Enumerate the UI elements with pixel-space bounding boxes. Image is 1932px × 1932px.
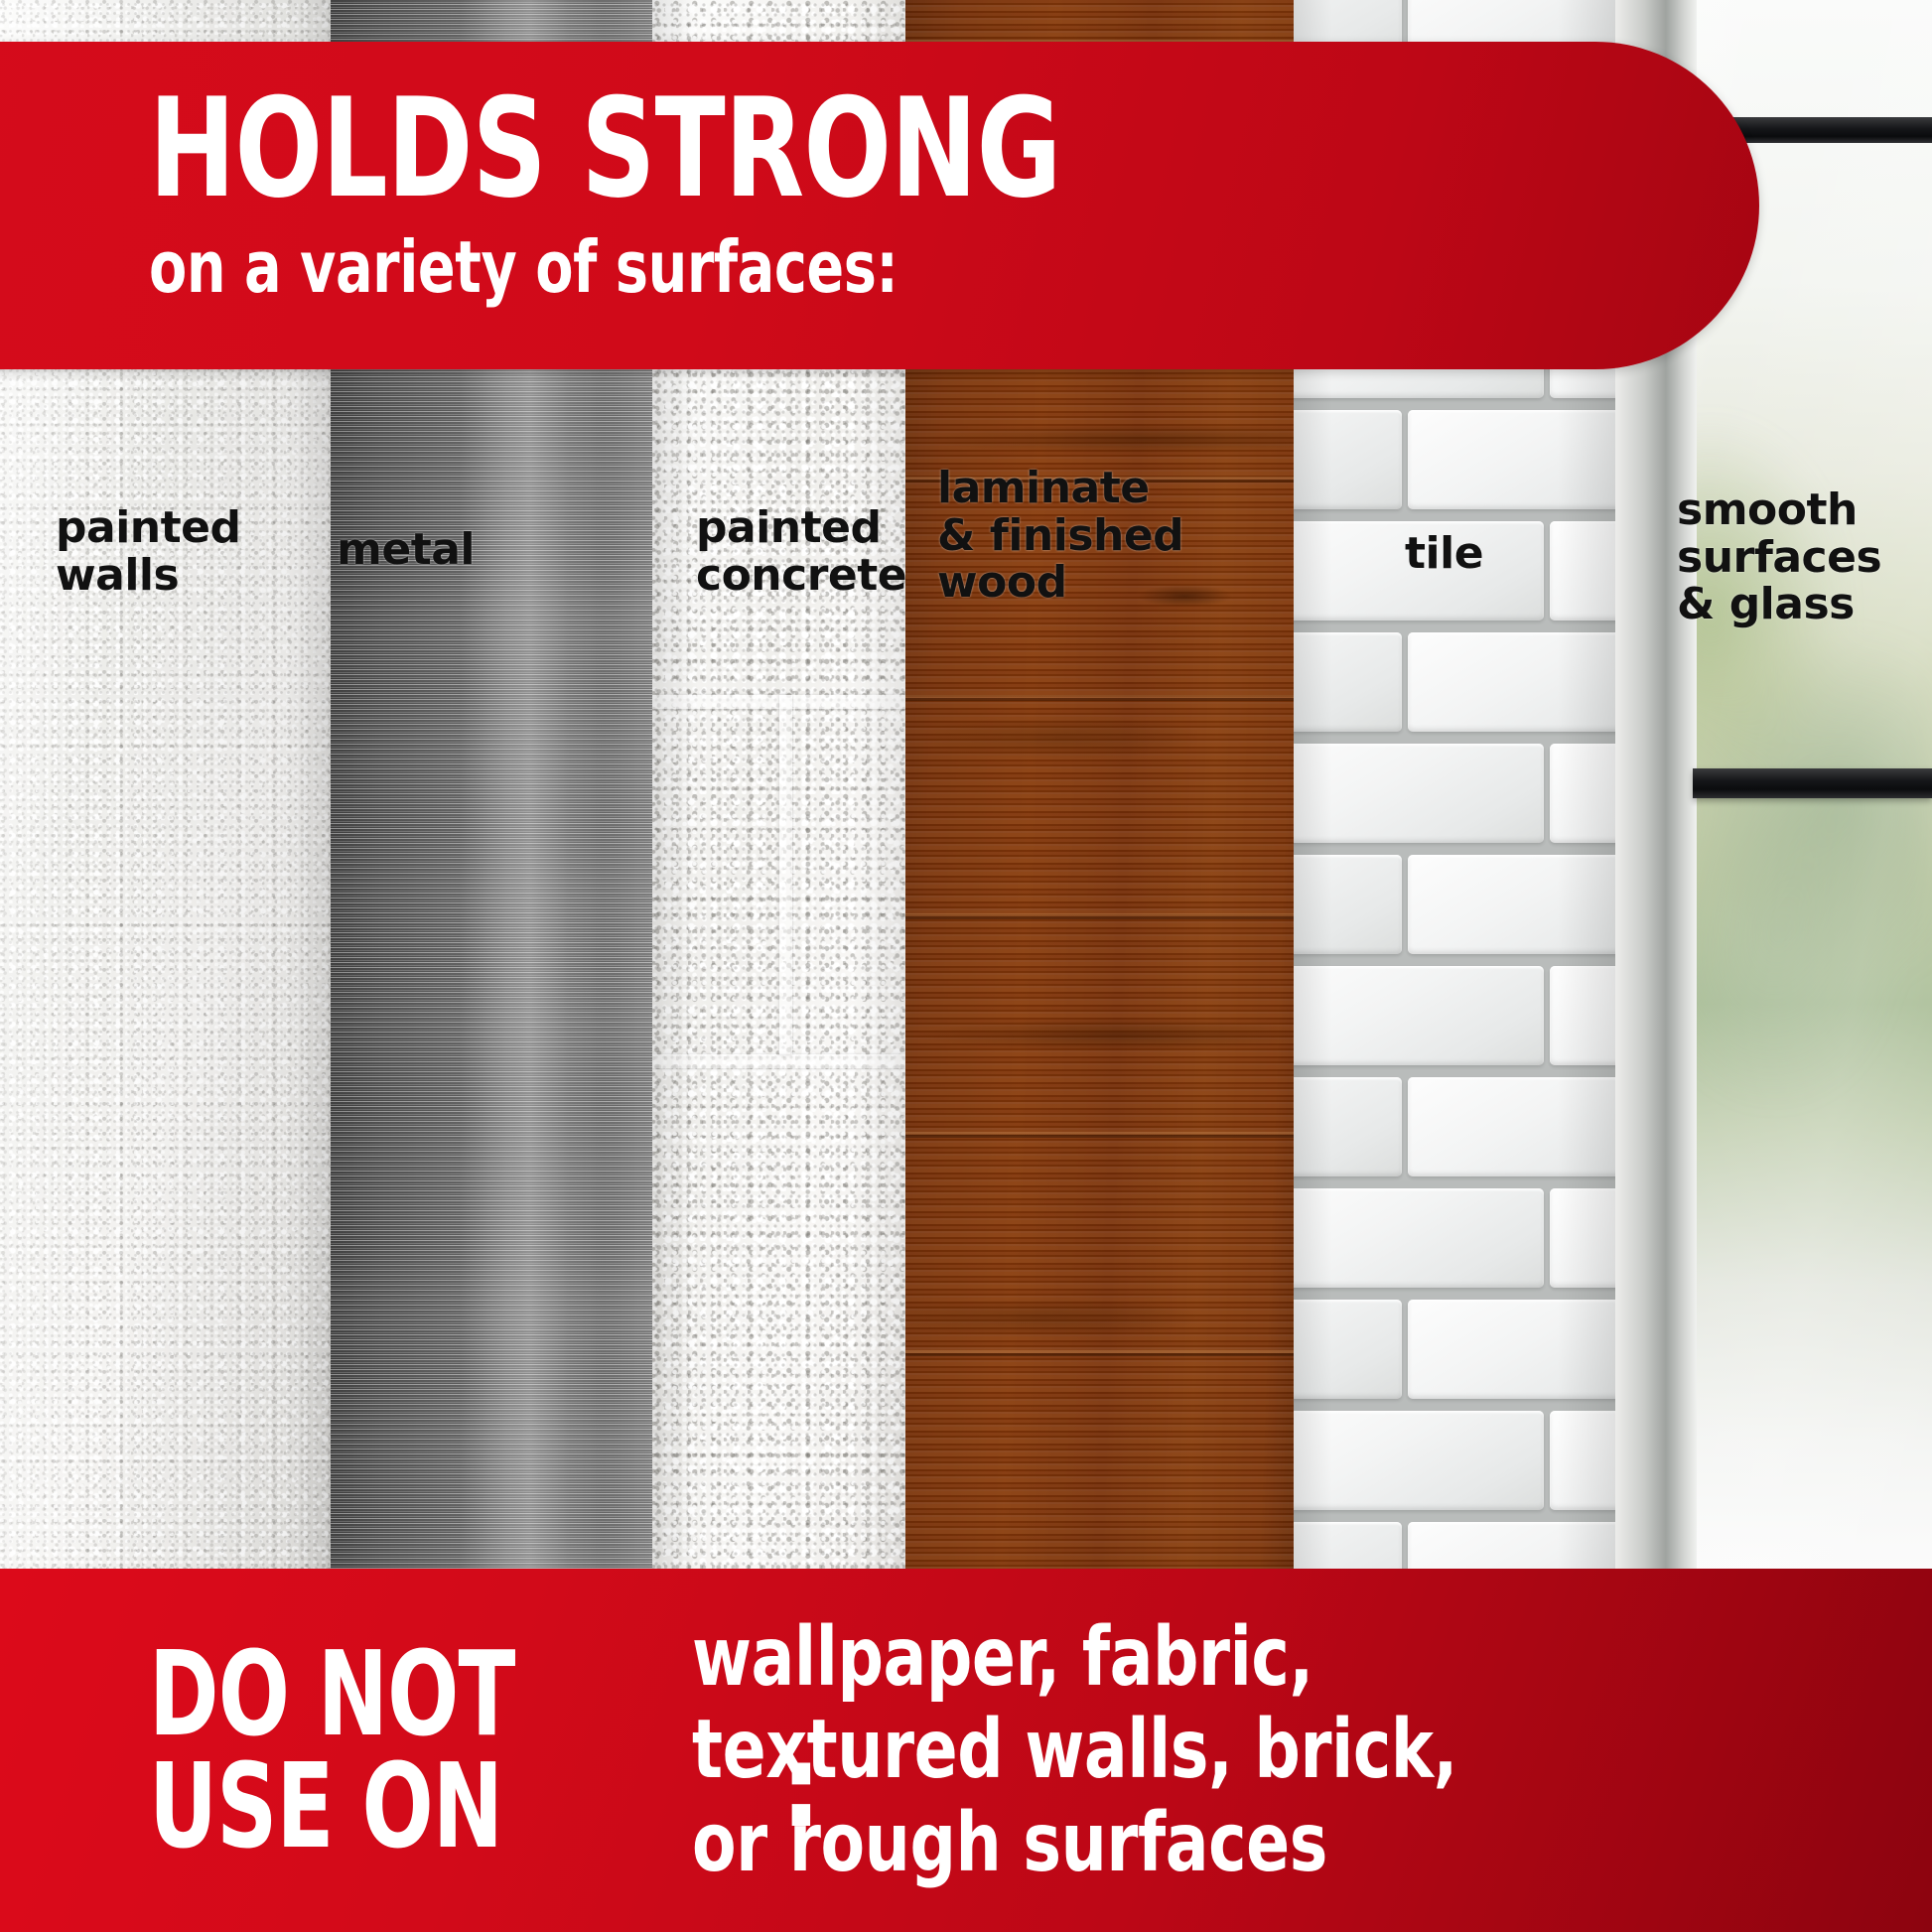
label-line: concrete [696,552,905,600]
prohibited-surfaces-list: wallpaper, fabric, textured walls, brick… [692,1611,1562,1889]
label-line: metal [337,526,475,574]
banner-text-block: HOLDS STRONG on a variety of surfaces: [149,81,1234,303]
label-line: & finished [937,512,1183,560]
warning-line-1: DO NOT [149,1638,515,1750]
label-line: tile [1405,530,1483,578]
surface-compatibility-infographic: painted walls metal painted concrete [0,0,1932,1932]
label-line: laminate [937,465,1183,512]
label-line: wood [937,559,1183,607]
label-laminate-wood: laminate & finished wood [937,465,1183,607]
label-line: painted [56,504,240,552]
list-line-2: textured walls, brick, [692,1704,1457,1796]
label-painted-concrete: painted concrete [696,504,905,599]
warning-row: DO NOT USE ON : wallpaper, fabric, textu… [0,1569,1932,1932]
subheadline: on a variety of surfaces: [149,231,1082,303]
label-smooth-glass: smooth surfaces & glass [1677,486,1881,628]
label-tile: tile [1405,530,1483,578]
window-mullion [1693,768,1932,798]
warning-line-2: USE ON [149,1750,515,1863]
label-line: surfaces [1677,534,1881,582]
list-line-1: wallpaper, fabric, [692,1611,1457,1704]
do-not-use-on-text: DO NOT USE ON : [149,1638,607,1863]
label-painted-walls: painted walls [56,504,240,599]
label-metal: metal [337,526,475,574]
label-line: walls [56,552,240,600]
list-line-3: or rough surfaces [692,1797,1457,1889]
label-line: & glass [1677,581,1881,628]
do-not-use-banner: DO NOT USE ON : wallpaper, fabric, textu… [0,1569,1932,1932]
label-line: painted [696,504,905,552]
headline: HOLDS STRONG [149,81,1060,215]
holds-strong-banner: HOLDS STRONG on a variety of surfaces: [0,42,1759,369]
label-line: smooth [1677,486,1881,534]
